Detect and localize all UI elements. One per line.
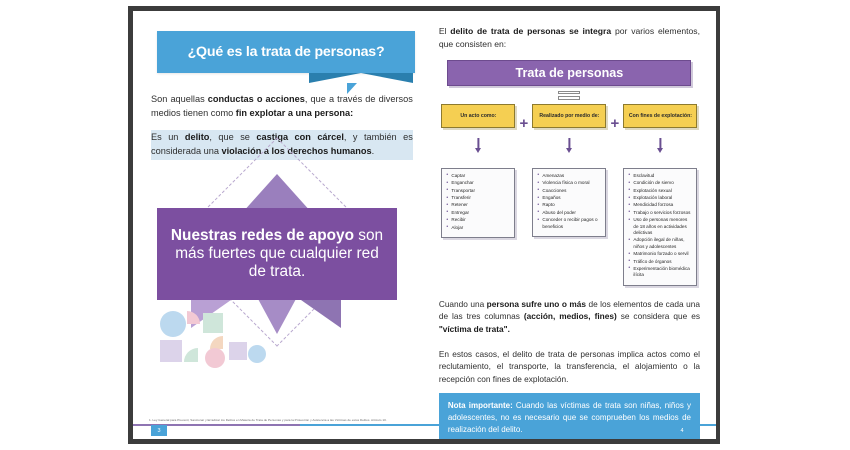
- purple-callout-box: Nuestras redes de apoyo son más fuertes …: [157, 208, 397, 300]
- list-item: Tráfico de órganos: [628, 259, 693, 265]
- list-item: Entregar: [446, 210, 511, 216]
- list-item: Explotación sexual: [628, 188, 693, 194]
- arrow-spacer-1: [515, 144, 532, 168]
- list-item: Alojar: [446, 225, 511, 231]
- ribbon-fold-shape: [309, 73, 413, 83]
- right-paragraph-2: En estos casos, el delito de trata de pe…: [439, 348, 700, 386]
- list-item: Uso de personas menores de 18 años en ac…: [628, 217, 693, 236]
- list-item: Abuso del poder: [537, 210, 602, 216]
- logo-shapes-icon: [157, 310, 277, 368]
- callout-text: Nuestras redes de apoyo son más fuertes …: [165, 227, 389, 281]
- list-item: Explotación laboral: [628, 195, 693, 201]
- callout-zone: Nuestras redes de apoyo son más fuertes …: [151, 168, 413, 364]
- right-page: El delito de trata de personas se integr…: [427, 11, 716, 439]
- diagram-title-box: Trata de personas: [447, 60, 691, 86]
- list-item: Conceder o recibir pagos o beneficios: [537, 217, 602, 230]
- column-header-3: Con fines de explotación:: [623, 104, 697, 128]
- arrow-down-icon-2: [532, 136, 606, 155]
- list-spacer-1: [515, 176, 532, 200]
- list-item: Engaños: [537, 195, 602, 201]
- left-paragraph-1: Son aquellas conductas o acciones, que a…: [151, 93, 413, 121]
- list-item: Experimentación biomédica ilícita: [628, 266, 693, 279]
- left-page: ¿Qué es la trata de personas? Son aquell…: [133, 11, 427, 439]
- page-number-left: 3: [151, 425, 167, 436]
- list-item: Transportar: [446, 188, 511, 194]
- column-header-2: Realizado por medio de:: [532, 104, 606, 128]
- list-item: Transferir: [446, 195, 511, 201]
- list-item: Esclavitud: [628, 173, 693, 179]
- footer-rule-teal: [300, 424, 426, 426]
- equals-connector-icon: [558, 91, 580, 100]
- list-item: Captar: [446, 173, 511, 179]
- list-item: Trabajo o servicios forzosos: [628, 210, 693, 216]
- important-note-box: Nota importante: Cuando las víctimas de …: [439, 393, 700, 439]
- plus-operator-1: +: [515, 112, 532, 136]
- page-title: ¿Qué es la trata de personas?: [188, 44, 385, 60]
- list-spacer-2: [606, 176, 623, 200]
- diagram-column-2: AmenazasViolencia física o moralCoaccion…: [532, 168, 606, 237]
- diagram-column-2-header-cell: Realizado por medio de:: [532, 104, 606, 128]
- ribbon-banner: ¿Qué es la trata de personas?: [151, 25, 413, 81]
- arrow-down-icon-1: [441, 136, 515, 155]
- ribbon-body: ¿Qué es la trata de personas?: [157, 31, 415, 73]
- booklet-spread: ¿Qué es la trata de personas? Son aquell…: [133, 11, 716, 439]
- list-item: Violencia física o moral: [537, 180, 602, 186]
- diagram-column-3-header-cell: Con fines de explotación:: [623, 104, 697, 128]
- diagram-arrows-row: [439, 136, 700, 168]
- list-item: Retener: [446, 202, 511, 208]
- list-item: Recibir: [446, 217, 511, 223]
- list-item: Matrimonio forzado o servil: [628, 251, 693, 257]
- diagram-column-1-header-cell: Un acto como:: [441, 104, 515, 128]
- page-number-right: 4: [674, 425, 690, 436]
- column-header-1: Un acto como:: [441, 104, 515, 128]
- list-item: Mendicidad forzosa: [628, 202, 693, 208]
- booklet-frame: ¿Qué es la trata de personas? Son aquell…: [128, 6, 720, 444]
- list-item: Amenazas: [537, 173, 602, 179]
- right-intro-paragraph: El delito de trata de personas se integr…: [439, 25, 700, 51]
- diagram-headers-row: Un acto como: + Realizado por medio de: …: [439, 104, 700, 136]
- list-item: Rapto: [537, 202, 602, 208]
- list-item: Condición de siervo: [628, 180, 693, 186]
- arrow-down-icon-3: [623, 136, 697, 155]
- list-box-acciones: CaptarEngancharTransportarTransferirRete…: [441, 168, 515, 238]
- arrow-spacer-2: [606, 144, 623, 168]
- diagram-column-3: EsclavitudCondición de siervoExplotación…: [623, 168, 697, 286]
- decorative-logo: [157, 310, 277, 368]
- ribbon-tail-shape: [347, 83, 365, 94]
- list-item: Coacciones: [537, 188, 602, 194]
- diagram-lists-row: CaptarEngancharTransportarTransferirRete…: [439, 168, 700, 286]
- screenshot-stage: ¿Qué es la trata de personas? Son aquell…: [0, 0, 850, 450]
- list-box-medios: AmenazasViolencia física o moralCoaccion…: [532, 168, 606, 237]
- plus-operator-2: +: [606, 112, 623, 136]
- list-item: Enganchar: [446, 180, 511, 186]
- footer-rule-right: [427, 424, 716, 426]
- list-box-fines: EsclavitudCondición de siervoExplotación…: [623, 168, 697, 286]
- diagram-column-1: CaptarEngancharTransportarTransferirRete…: [441, 168, 515, 238]
- list-item: Adopción ilegal de niñas, niños y adoles…: [628, 237, 693, 250]
- right-paragraph-1: Cuando una persona sufre uno o más de lo…: [439, 298, 700, 336]
- footnote-text: 1. Ley General para Prevenir, Sancionar …: [149, 418, 407, 423]
